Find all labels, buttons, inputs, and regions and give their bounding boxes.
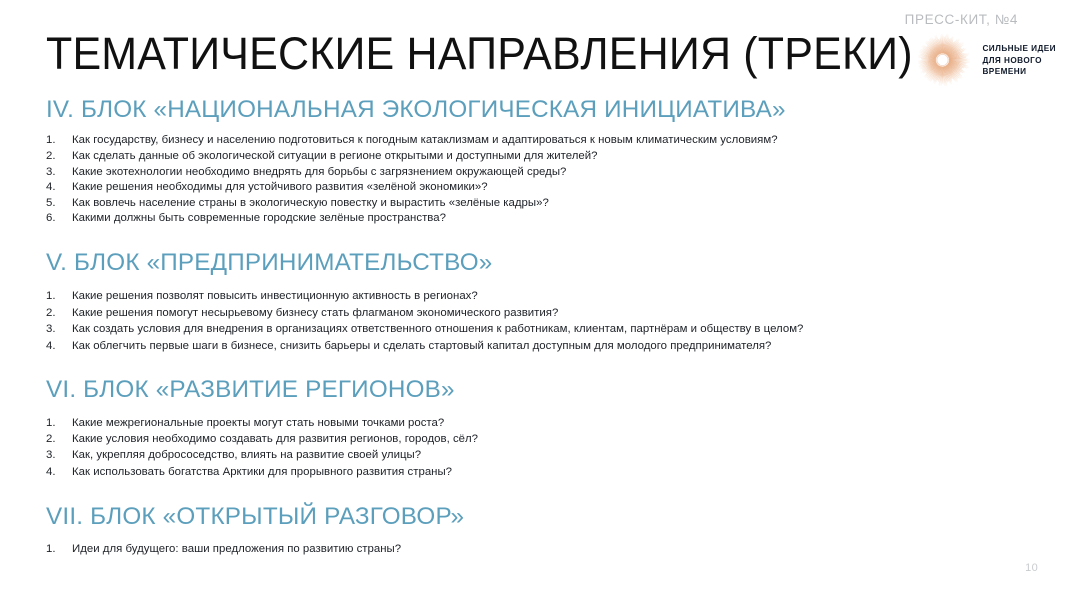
block-question-list: 1.Идеи для будущего: ваши предложения по… [46,541,1026,557]
block-heading: IV. БЛОК «НАЦИОНАЛЬНАЯ ЭКОЛОГИЧЕСКАЯ ИНИ… [46,96,1016,123]
list-item: 3.Как, укрепляя добрососедство, влиять н… [46,447,1026,463]
list-item: 1.Какие межрегиональные проекты могут ст… [46,415,1026,431]
brand-line-1: СИЛЬНЫЕ ИДЕИ [982,43,1056,55]
list-item: 4.Как облегчить первые шаги в бизнесе, с… [46,338,1026,354]
list-item: 2.Как сделать данные об экологической си… [46,149,1026,165]
brand-line-3: ВРЕМЕНИ [982,66,1056,78]
list-item-number: 6. [46,211,72,227]
list-item: 3.Какие экотехнологии необходимо внедрят… [46,165,1026,181]
block-entrepreneurship: V. БЛОК «ПРЕДПРИНИМАТЕЛЬСТВО» 1.Какие ре… [46,249,1026,354]
list-item: 6.Какими должны быть современные городск… [46,211,1026,227]
brand-line-2: ДЛЯ НОВОГО [982,55,1056,67]
list-item-number: 4. [46,180,72,196]
list-item-number: 3. [46,165,72,181]
list-item: 1.Идеи для будущего: ваши предложения по… [46,541,1026,557]
block-heading: V. БЛОК «ПРЕДПРИНИМАТЕЛЬСТВО» [46,249,1016,276]
brand-lockup: СИЛЬНЫЕ ИДЕИ ДЛЯ НОВОГО ВРЕМЕНИ [917,32,1056,88]
block-question-list: 1.Какие решения позволят повысить инвест… [46,288,1026,354]
list-item: 1.Как государству, бизнесу и населению п… [46,133,1026,149]
list-item: 5.Как вовлечь население страны в экологи… [46,196,1026,212]
list-item-text: Как вовлечь население страны в экологиче… [72,196,1026,212]
list-item-number: 3. [46,321,72,337]
block-heading: VI. БЛОК «РАЗВИТИЕ РЕГИОНОВ» [46,376,1016,403]
list-item-number: 5. [46,196,72,212]
tracks-content: IV. БЛОК «НАЦИОНАЛЬНАЯ ЭКОЛОГИЧЕСКАЯ ИНИ… [46,96,1026,557]
list-item: 3.Как создать условия для внедрения в ор… [46,321,1026,337]
list-item-text: Идеи для будущего: ваши предложения по р… [72,541,1026,557]
block-regional-development: VI. БЛОК «РАЗВИТИЕ РЕГИОНОВ» 1.Какие меж… [46,376,1026,480]
list-item: 2.Какие решения помогут несырьевому бизн… [46,305,1026,321]
list-item-text: Как облегчить первые шаги в бизнесе, сни… [72,338,1026,354]
block-heading: VII. БЛОК «ОТКРЫТЫЙ РАЗГОВОР» [46,503,1016,530]
block-question-list: 1.Какие межрегиональные проекты могут ст… [46,415,1026,481]
list-item-number: 2. [46,431,72,447]
list-item-text: Как использовать богатства Арктики для п… [72,464,1026,480]
list-item-number: 1. [46,133,72,149]
list-item-number: 3. [46,447,72,463]
list-item-text: Какими должны быть современные городские… [72,211,1026,227]
brand-name: СИЛЬНЫЕ ИДЕИ ДЛЯ НОВОГО ВРЕМЕНИ [982,42,1056,78]
list-item-text: Какие решения необходимы для устойчивого… [72,180,1026,196]
page-number: 10 [1025,562,1038,574]
list-item-text: Какие экотехнологии необходимо внедрять … [72,165,1026,181]
list-item-text: Какие межрегиональные проекты могут стат… [72,415,1026,431]
list-item: 4.Как использовать богатства Арктики для… [46,464,1026,480]
list-item: 1.Какие решения позволят повысить инвест… [46,288,1026,304]
block-open-conversation: VII. БЛОК «ОТКРЫТЫЙ РАЗГОВОР» 1.Идеи для… [46,503,1026,557]
list-item: 4.Какие решения необходимы для устойчиво… [46,180,1026,196]
list-item-text: Как, укрепляя добрососедство, влиять на … [72,447,1026,463]
list-item-text: Как сделать данные об экологической ситу… [72,149,1026,165]
press-kit-label: ПРЕСС-КИТ, №4 [905,12,1018,27]
list-item: 2.Какие условия необходимо создавать для… [46,431,1026,447]
list-item-number: 1. [46,541,72,557]
list-item-text: Какие решения позволят повысить инвестиц… [72,288,1026,304]
list-item-text: Какие решения помогут несырьевому бизнес… [72,305,1026,321]
radial-burst-logo-icon [917,32,973,88]
list-item-number: 2. [46,149,72,165]
list-item-number: 2. [46,305,72,321]
page-title: ТЕМАТИЧЕСКИЕ НАПРАВЛЕНИЯ (ТРЕКИ) [46,31,913,78]
list-item-text: Какие условия необходимо создавать для р… [72,431,1026,447]
list-item-text: Как создать условия для внедрения в орга… [72,321,1026,337]
block-question-list: 1.Как государству, бизнесу и населению п… [46,133,1026,227]
list-item-number: 4. [46,338,72,354]
slide-root: ПРЕСС-КИТ, №4 [0,0,1066,600]
block-national-ecological-initiative: IV. БЛОК «НАЦИОНАЛЬНАЯ ЭКОЛОГИЧЕСКАЯ ИНИ… [46,96,1026,227]
list-item-number: 1. [46,288,72,304]
list-item-text: Как государству, бизнесу и населению под… [72,133,1026,149]
list-item-number: 4. [46,464,72,480]
list-item-number: 1. [46,415,72,431]
